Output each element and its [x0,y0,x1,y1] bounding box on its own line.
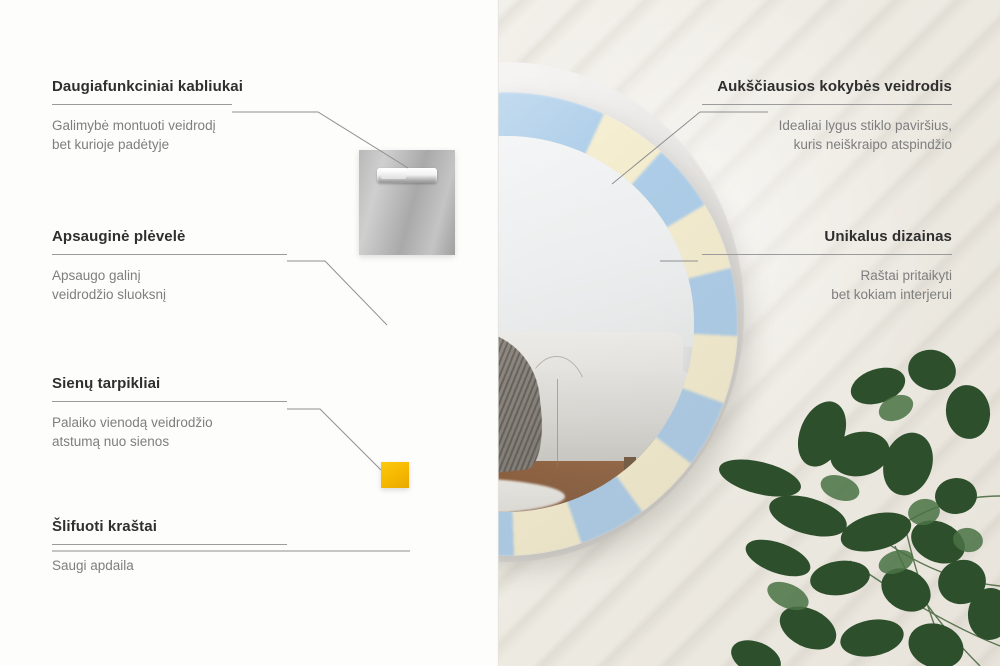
feature-block-unique-design: Unikalus dizainas Raštai pritaikyti bet … [702,228,952,304]
feature-block-protective-film: Apsauginė plėvelė Apsaugo galinį veidrod… [52,228,248,304]
wall-spacer-block [381,462,409,488]
feature-description-top-quality-mirror: Idealiai lygus stiklo paviršius, kuris n… [702,116,952,154]
mounting-hook-plate [359,150,455,255]
feature-title-unique-design: Unikalus dizainas [702,228,952,245]
feature-block-polished-edges: Šlifuoti kraštai Saugi apdaila [52,518,248,575]
feature-title-protective-film: Apsauginė plėvelė [52,228,248,245]
feature-rule [52,544,287,545]
feature-description-polished-edges: Saugi apdaila [52,556,248,575]
feature-block-wall-spacers: Sienų tarpikliai Palaiko vienodą veidrod… [52,375,248,451]
feature-description-unique-design: Raštai pritaikyti bet kokiam interjerui [702,266,952,304]
feature-title-hooks: Daugiafunkciniai kabliukai [52,78,248,95]
feature-description-protective-film: Apsaugo galinį veidrodžio sluoksnį [52,266,248,304]
feature-description-hooks: Galimybė montuoti veidrodį bet kurioje p… [52,116,248,154]
feature-block-hooks: Daugiafunkciniai kabliukai Galimybė mont… [52,78,248,154]
infographic-canvas: Daugiafunkciniai kabliukai Galimybė mont… [0,0,1000,666]
feature-rule [52,401,287,402]
feature-title-wall-spacers: Sienų tarpikliai [52,375,248,392]
product-mirror [470,92,738,562]
panel-divider [497,0,499,666]
feature-rule [52,104,232,105]
feature-rule [702,104,952,105]
feature-rule [52,254,287,255]
feature-title-top-quality-mirror: Aukščiausios kokybės veidrodis [702,78,952,95]
feature-block-top-quality-mirror: Aukščiausios kokybės veidrodis Idealiai … [702,78,952,154]
plant-foliage [700,346,1000,666]
feature-title-polished-edges: Šlifuoti kraštai [52,518,248,535]
feature-description-wall-spacers: Palaiko vienodą veidrodžio atstumą nuo s… [52,413,248,451]
feature-rule [702,254,952,255]
hook-slot [377,168,437,183]
